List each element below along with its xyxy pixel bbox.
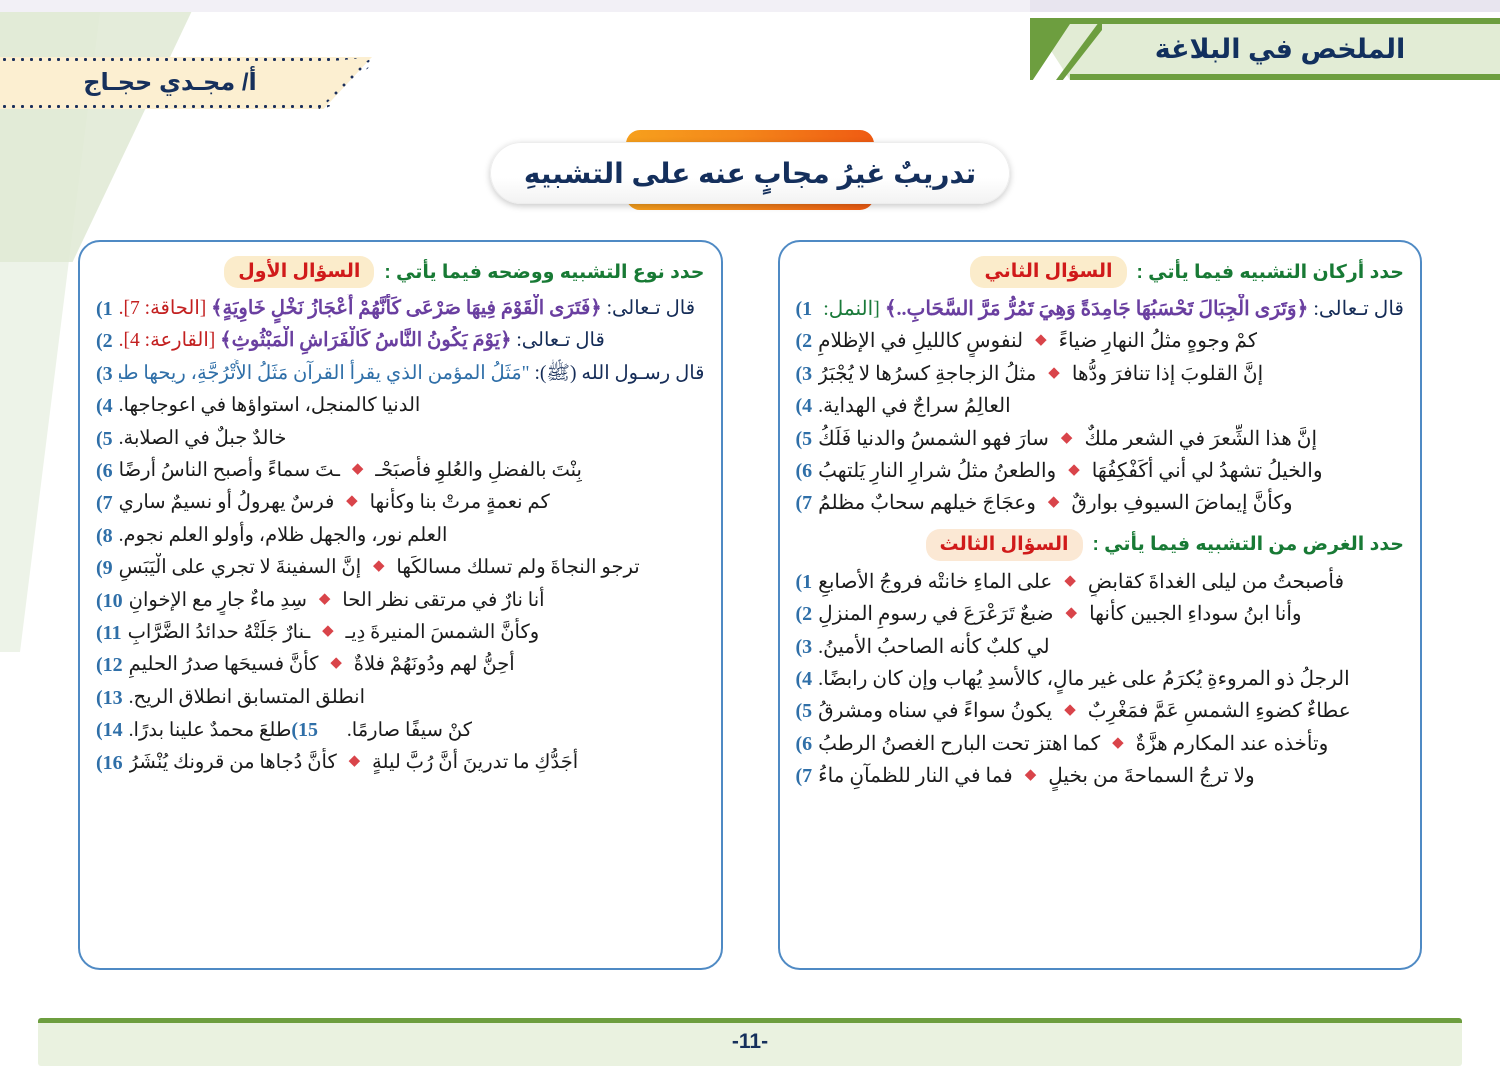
item-number: 4) xyxy=(96,391,113,421)
item-text: وكأنَّ الشمسَ المنيرةَ دِيـ ◆ ـنارٌ جَلَ… xyxy=(128,618,540,648)
quran-verse: ﴿وَتَرَى الْجِبَالَ تَحْسَبُهَا جَامِدَة… xyxy=(885,298,1309,320)
item-sentence: انطلق المتسابق انطلاق الريح. xyxy=(129,687,365,708)
hemistich-separator-icon: ◆ xyxy=(1018,767,1044,783)
hemistich-separator-icon: ◆ xyxy=(1057,573,1083,589)
item-number: 5) xyxy=(796,696,813,726)
hemistich-second: ـنارٌ جَلَتْهُ حدائدُ الضَّرَّابِ xyxy=(128,622,315,643)
hemistich-separator-icon: ◆ xyxy=(1105,735,1131,751)
item-text: خالدٌ جبلٌ في الصلابة. xyxy=(119,424,287,454)
hemistich-second: كأنَّ فسيحَها صدرُ الحليمِ xyxy=(129,654,324,675)
verse-reference: [القارعة: 4]. xyxy=(119,330,216,351)
question-three-badge: السؤال الثالث xyxy=(926,529,1083,561)
item-text: ترجو النجاةَ ولم تسلك مسالكَها ◆ إنَّ ال… xyxy=(119,553,640,583)
item-number: 11) xyxy=(96,618,122,648)
page-title: الملخص في البلاغة xyxy=(1060,18,1500,80)
card-question-one: حدد نوع التشبيه ووضحه فيما يأتي : السؤال… xyxy=(78,240,723,970)
hemistich-separator-icon: ◆ xyxy=(312,591,338,607)
list-item: خالدٌ جبلٌ في الصلابة. 5) xyxy=(96,424,705,454)
hemistich-second: والطعنُ مثلُ شرارِ النارِ يَلتهبُ xyxy=(818,460,1061,482)
item-number: 6) xyxy=(796,729,813,759)
item-text: بِنْتَ بالفضلِ والعُلوِ فأصبَحْـ ◆ ـتَ س… xyxy=(119,456,582,486)
card-questions-two-three: حدد أركان التشبيه فيما يأتي : السؤال الث… xyxy=(778,240,1423,970)
cards-container: حدد أركان التشبيه فيما يأتي : السؤال الث… xyxy=(0,240,1500,970)
item-number: 1) xyxy=(796,567,813,597)
list-item: إنَّ القلوبَ إذا تنافرَ ودُّها ◆ مثلُ ال… xyxy=(796,359,1405,389)
quran-verse: ﴿يَوْمَ يَكُونُ النَّاسُ كَالْفَرَاشِ ال… xyxy=(220,330,511,351)
item-text: أنا نارٌ في مرتقى نظر الحا ◆ سِدِ ماءٌ ج… xyxy=(129,586,545,616)
item-text: العالِمُ سراجٌ في الهداية. xyxy=(818,391,1011,421)
item-sentence: كنْ سيفًا صارمًا. xyxy=(347,720,472,741)
item-text: كم نعمةٍ مرتْ بنا وكأنها ◆ فرسٌ يهرولُ أ… xyxy=(119,488,550,518)
item-text: وتأخذه عند المكارم هزَّةٌ ◆ كما اهتز تحت… xyxy=(818,729,1328,759)
item-text: وكأنَّ إيماضَ السيوفِ بوارقٌ ◆ وعجَاجَ خ… xyxy=(818,488,1292,518)
question-two-badge: السؤال الثاني xyxy=(970,256,1126,288)
item-number: 2) xyxy=(796,326,813,356)
item-number: 1) xyxy=(96,294,113,324)
item-sentence: لي كلبٌ كأنه الصاحبُ الأمينُ. xyxy=(818,636,1049,658)
hemistich-second: كما اهتز تحت البارح الغصنُ الرطبُ xyxy=(818,733,1105,755)
hadith-text: "مَثَلُ المؤمن الذي يقرأ القرآن مَثَلُ ا… xyxy=(119,363,530,384)
item-text: إنَّ القلوبَ إذا تنافرَ ودُّها ◆ مثلُ ال… xyxy=(818,359,1263,389)
question-two-prompt: حدد أركان التشبيه فيما يأتي : xyxy=(1137,261,1404,284)
question-one-badge: السؤال الأول xyxy=(224,256,374,288)
hemistich-second: لنفوسٍ كالليلِ في الإظلامِ xyxy=(818,330,1028,352)
question-three-prompt: حدد الغرض من التشبيه فيما يأتي : xyxy=(1093,533,1405,556)
hemistich-first: كمْ وجوهٍ مثلُ النهارِ ضياءً xyxy=(1059,330,1258,352)
item-number: 14) xyxy=(96,715,123,745)
hemistich-second: سارَ فهو الشمسُ والدنيا فَلَكُ xyxy=(818,428,1054,450)
list-item: لي كلبٌ كأنه الصاحبُ الأمينُ. 3) xyxy=(796,632,1405,662)
question-three-header: حدد الغرض من التشبيه فيما يأتي : السؤال … xyxy=(796,529,1405,561)
item-text: الدنيا كالمنجل، استواؤها في اعوجاجها. xyxy=(119,391,421,421)
hemistich-second: ـتَ سماءً وأصبح الناسُ أرضًا xyxy=(119,460,345,481)
item-number: 10) xyxy=(96,586,123,616)
item-number: 6) xyxy=(96,456,113,486)
list-item: بِنْتَ بالفضلِ والعُلوِ فأصبَحْـ ◆ ـتَ س… xyxy=(96,456,705,486)
item-text: إنَّ هذا الشِّعرَ في الشعر ملكٌ ◆ سارَ ف… xyxy=(818,424,1317,454)
hemistich-separator-icon: ◆ xyxy=(323,655,349,671)
page-root: الملخص في البلاغة أ/ مجـدي حجـاج تدريبٌ … xyxy=(0,0,1500,1080)
item-text: قال رسـول الله (ﷺ): "مَثَلُ المؤمن الذي … xyxy=(119,359,705,389)
item-sentence: العالِمُ سراجٌ في الهداية. xyxy=(818,395,1011,417)
hemistich-first: أَجَدُّكِ ما تدرينَ أنَّ رُبَّ ليلةٍ xyxy=(372,752,578,773)
hemistich-first: عطاءٌ كضوءِ الشمسِ عَمَّ فمَغْرِبٌ xyxy=(1088,700,1351,722)
item-number: 5) xyxy=(796,424,813,454)
hemistich-second: وعجَاجَ خيلهم سحابٌ مظلمُ xyxy=(818,492,1041,514)
item-number-secondary: 15) xyxy=(291,719,318,741)
hemistich-first: فأصبحتُ من ليلى الغداةَ كقابضٍ xyxy=(1088,571,1344,593)
list-item: الدنيا كالمنجل، استواؤها في اعوجاجها. 4) xyxy=(96,391,705,421)
hemistich-first: وأنا ابنُ سوداءِ الجبين كأنها xyxy=(1089,603,1302,625)
list-item: ولا ترجُ السماحةَ من بخيلٍ ◆ فما في النا… xyxy=(796,761,1405,791)
question-one-prompt: حدد نوع التشبيه ووضحه فيما يأتي : xyxy=(384,261,704,284)
list-item: قال رسـول الله (ﷺ): "مَثَلُ المؤمن الذي … xyxy=(96,359,705,389)
hemistich-separator-icon: ◆ xyxy=(366,558,392,574)
list-item: العالِمُ سراجٌ في الهداية. 4) xyxy=(796,391,1405,421)
item-text: قال تـعالى: ﴿يَوْمَ يَكُونُ النَّاسُ كَا… xyxy=(119,326,605,356)
list-item: وأنا ابنُ سوداءِ الجبين كأنها ◆ ضبعٌ تَر… xyxy=(796,599,1405,629)
hemistich-first: أحِنُّ لهم ودُونَهُمْ فلاةٌ xyxy=(354,654,515,675)
hemistich-separator-icon: ◆ xyxy=(1057,702,1083,718)
list-item: وكأنَّ الشمسَ المنيرةَ دِيـ ◆ ـنارٌ جَلَ… xyxy=(96,618,705,648)
hemistich-first: وكأنَّ الشمسَ المنيرةَ دِيـ xyxy=(345,622,539,643)
list-item: العلم نور، والجهل ظلام، وأولو العلم نجوم… xyxy=(96,521,705,551)
item-number: 7) xyxy=(796,761,813,791)
item-text: والخيلُ تشهدُ لي أني أكَفْكِفُهَا ◆ والط… xyxy=(818,456,1322,486)
list-item: فأصبحتُ من ليلى الغداةَ كقابضٍ ◆ على الم… xyxy=(796,567,1405,597)
item-text: عطاءٌ كضوءِ الشمسِ عَمَّ فمَغْرِبٌ ◆ يكو… xyxy=(818,696,1350,726)
hemistich-second: فما في النار للظمآنِ ماءُ xyxy=(818,765,1018,787)
list-item: قال تـعالى: ﴿فَتَرَى الْقَوْمَ فِيهَا صَ… xyxy=(96,294,705,324)
list-item: عطاءٌ كضوءِ الشمسِ عَمَّ فمَغْرِبٌ ◆ يكو… xyxy=(796,696,1405,726)
item-number: 13) xyxy=(96,683,123,713)
item-number: 8) xyxy=(96,521,113,551)
hemistich-second: مثلُ الزجاجةِ كسرُها لا يُجْبَرُ xyxy=(818,363,1041,385)
hemistich-separator-icon: ◆ xyxy=(1028,332,1054,348)
author-name: أ/ مجـدي حجـاج xyxy=(0,57,340,109)
item-text: أَجَدُّكِ ما تدرينَ أنَّ رُبَّ ليلةٍ ◆ ك… xyxy=(129,748,579,778)
item-number: 3) xyxy=(96,359,113,389)
item-number: 3) xyxy=(796,632,813,662)
list-item: وكأنَّ إيماضَ السيوفِ بوارقٌ ◆ وعجَاجَ خ… xyxy=(796,488,1405,518)
list-item: أَجَدُّكِ ما تدرينَ أنَّ رُبَّ ليلةٍ ◆ ك… xyxy=(96,748,705,778)
hemistich-first: والخيلُ تشهدُ لي أني أكَفْكِفُهَا xyxy=(1092,460,1323,482)
list-item: الرجلُ ذو المروءةِ يُكرَمُ على غير مالٍ،… xyxy=(796,664,1405,694)
hemistich-first: كم نعمةٍ مرتْ بنا وكأنها xyxy=(370,492,550,513)
hemistich-first: إنَّ القلوبَ إذا تنافرَ ودُّها xyxy=(1072,363,1263,385)
item-text: انطلق المتسابق انطلاق الريح. xyxy=(129,683,365,713)
item-text: فأصبحتُ من ليلى الغداةَ كقابضٍ ◆ على الم… xyxy=(818,567,1344,597)
item-number: 7) xyxy=(96,488,113,518)
hemistich-separator-icon: ◆ xyxy=(339,493,365,509)
item-number: 4) xyxy=(796,391,813,421)
hemistich-first: وكأنَّ إيماضَ السيوفِ بوارقٌ xyxy=(1071,492,1292,514)
verse-lead: قال تـعالى: xyxy=(607,298,695,319)
question-one-list: قال تـعالى: ﴿فَتَرَى الْقَوْمَ فِيهَا صَ… xyxy=(96,294,705,778)
item-text: وأنا ابنُ سوداءِ الجبين كأنها ◆ ضبعٌ تَر… xyxy=(818,599,1301,629)
item-text: كنْ سيفًا صارمًا. 15)طلعَ محمدٌ علينا بد… xyxy=(129,715,472,746)
item-number: 16) xyxy=(96,748,123,778)
exercise-title-text: تدريبٌ غيرُ مجابٍ عنه على التشبيهِ xyxy=(524,157,976,190)
top-strip-light xyxy=(0,0,1030,12)
question-one-header: حدد نوع التشبيه ووضحه فيما يأتي : السؤال… xyxy=(96,256,705,288)
item-sentence: الرجلُ ذو المروءةِ يُكرَمُ على غير مالٍ،… xyxy=(818,668,1350,690)
exercise-title-pill: تدريبٌ غيرُ مجابٍ عنه على التشبيهِ xyxy=(490,142,1010,204)
list-item: كم نعمةٍ مرتْ بنا وكأنها ◆ فرسٌ يهرولُ أ… xyxy=(96,488,705,518)
list-item: وتأخذه عند المكارم هزَّةٌ ◆ كما اهتز تحت… xyxy=(796,729,1405,759)
list-item: ترجو النجاةَ ولم تسلك مسالكَها ◆ إنَّ ال… xyxy=(96,553,705,583)
quran-verse: ﴿فَتَرَى الْقَوْمَ فِيهَا صَرْعَى كَأَنَ… xyxy=(211,298,602,319)
item-number: 2) xyxy=(96,326,113,356)
hemistich-first: بِنْتَ بالفضلِ والعُلوِ فأصبَحْـ xyxy=(375,460,582,481)
item-sentence: العلم نور، والجهل ظلام، وأولو العلم نجوم… xyxy=(119,525,448,546)
verse-lead: قال تـعالى: xyxy=(516,330,604,351)
hemistich-second: كأنَّ دُجاها من قرونك يُنْشَرُ xyxy=(129,752,342,773)
hemistich-separator-icon: ◆ xyxy=(1054,430,1080,446)
hemistich-separator-icon: ◆ xyxy=(342,753,368,769)
question-three-list: فأصبحتُ من ليلى الغداةَ كقابضٍ ◆ على الم… xyxy=(796,567,1405,792)
item-text: ولا ترجُ السماحةَ من بخيلٍ ◆ فما في النا… xyxy=(818,761,1255,791)
item-text: قال تـعالى: ﴿وَتَرَى الْجِبَالَ تَحْسَبُ… xyxy=(818,294,1404,324)
list-item: أحِنُّ لهم ودُونَهُمْ فلاةٌ ◆ كأنَّ فسيح… xyxy=(96,650,705,680)
list-item: انطلق المتسابق انطلاق الريح. 13) xyxy=(96,683,705,713)
hemistich-first: ولا ترجُ السماحةَ من بخيلٍ xyxy=(1048,765,1254,787)
footer: -11- xyxy=(0,1004,1500,1080)
item-text: لي كلبٌ كأنه الصاحبُ الأمينُ. xyxy=(818,632,1049,662)
verse-reference: [النمل: 88] xyxy=(818,298,880,320)
item-number: 3) xyxy=(796,359,813,389)
item-text: كمْ وجوهٍ مثلُ النهارِ ضياءً ◆ لنفوسٍ كا… xyxy=(818,326,1257,356)
item-number: 1) xyxy=(796,294,813,324)
hemistich-first: وتأخذه عند المكارم هزَّةٌ xyxy=(1136,733,1329,755)
list-item: كنْ سيفًا صارمًا. 15)طلعَ محمدٌ علينا بد… xyxy=(96,715,705,746)
item-number: 12) xyxy=(96,650,123,680)
hemistich-first: ترجو النجاةَ ولم تسلك مسالكَها xyxy=(396,557,639,578)
hemistich-second: على الماءِ خانتْه فروجُ الأصابعِ xyxy=(818,571,1057,593)
hemistich-second: فرسٌ يهرولُ أو نسيمٌ ساري xyxy=(119,492,340,513)
hadith-lead: قال رسـول الله (ﷺ): xyxy=(535,363,705,384)
hemistich-separator-icon: ◆ xyxy=(345,461,371,477)
verse-reference: [الحاقة: 7]. xyxy=(119,298,207,319)
hemistich-second: يكونُ سواءً في سناه ومشرقُ xyxy=(818,700,1057,722)
item-sentence-secondary: طلعَ محمدٌ علينا بدرًا. xyxy=(129,720,292,741)
question-two-header: حدد أركان التشبيه فيما يأتي : السؤال الث… xyxy=(796,256,1405,288)
item-text: أحِنُّ لهم ودُونَهُمْ فلاةٌ ◆ كأنَّ فسيح… xyxy=(129,650,515,680)
item-sentence: خالدٌ جبلٌ في الصلابة. xyxy=(119,428,287,449)
exercise-title-area: تدريبٌ غيرُ مجابٍ عنه على التشبيهِ xyxy=(0,128,1500,220)
question-two-list: قال تـعالى: ﴿وَتَرَى الْجِبَالَ تَحْسَبُ… xyxy=(796,294,1405,519)
hemistich-separator-icon: ◆ xyxy=(1059,605,1085,621)
hemistich-separator-icon: ◆ xyxy=(1041,365,1067,381)
item-number: 9) xyxy=(96,553,113,583)
item-number: 5) xyxy=(96,424,113,454)
list-item: إنَّ هذا الشِّعرَ في الشعر ملكٌ ◆ سارَ ف… xyxy=(796,424,1405,454)
list-item: كمْ وجوهٍ مثلُ النهارِ ضياءً ◆ لنفوسٍ كا… xyxy=(796,326,1405,356)
hemistich-separator-icon: ◆ xyxy=(1061,462,1087,478)
hemistich-first: أنا نارٌ في مرتقى نظر الحا xyxy=(342,590,544,611)
item-number: 7) xyxy=(796,488,813,518)
hemistich-second: ضبعٌ تَرَعْرَعَ في رسومِ المنزلِ xyxy=(818,603,1058,625)
item-number: 2) xyxy=(796,599,813,629)
hemistich-separator-icon: ◆ xyxy=(1041,494,1067,510)
item-number: 6) xyxy=(796,456,813,486)
item-text: العلم نور، والجهل ظلام، وأولو العلم نجوم… xyxy=(119,521,448,551)
list-item: قال تـعالى: ﴿يَوْمَ يَكُونُ النَّاسُ كَا… xyxy=(96,326,705,356)
hemistich-second: سِدِ ماءٌ جارٍ مع الإخوانِ xyxy=(129,590,312,611)
list-item: قال تـعالى: ﴿وَتَرَى الْجِبَالَ تَحْسَبُ… xyxy=(796,294,1405,324)
list-item: أنا نارٌ في مرتقى نظر الحا ◆ سِدِ ماءٌ ج… xyxy=(96,586,705,616)
item-text: الرجلُ ذو المروءةِ يُكرَمُ على غير مالٍ،… xyxy=(818,664,1350,694)
hemistich-separator-icon: ◆ xyxy=(315,623,341,639)
hemistich-second: إنَّ السفينةَ لا تجري على الْيَبَسِ xyxy=(119,557,366,578)
verse-lead: قال تـعالى: xyxy=(1313,298,1404,320)
item-number: 4) xyxy=(796,664,813,694)
hemistich-first: إنَّ هذا الشِّعرَ في الشعر ملكٌ xyxy=(1084,428,1317,450)
page-number: -11- xyxy=(38,1018,1462,1066)
item-sentence: الدنيا كالمنجل، استواؤها في اعوجاجها. xyxy=(119,395,421,416)
item-text: قال تـعالى: ﴿فَتَرَى الْقَوْمَ فِيهَا صَ… xyxy=(119,294,695,324)
list-item: والخيلُ تشهدُ لي أني أكَفْكِفُهَا ◆ والط… xyxy=(796,456,1405,486)
